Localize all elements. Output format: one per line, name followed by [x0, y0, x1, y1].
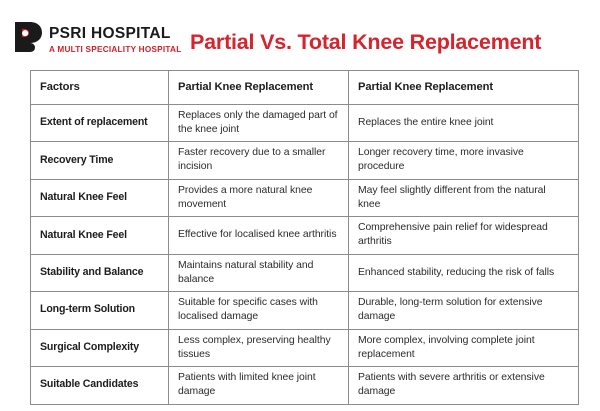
table-row: Long-term Solution Suitable for specific… — [31, 292, 579, 329]
table-header: Factors Partial Knee Replacement Partial… — [31, 71, 579, 105]
brand-tagline: A MULTI SPECIALITY HOSPITAL — [49, 45, 181, 54]
cell-partial: Replaces only the damaged part of the kn… — [169, 105, 349, 142]
cell-factor: Extent of replacement — [31, 105, 169, 142]
comparison-table: Factors Partial Knee Replacement Partial… — [30, 70, 579, 405]
column-header-factors: Factors — [31, 71, 169, 105]
comparison-table-container: Factors Partial Knee Replacement Partial… — [30, 70, 578, 405]
page-title: Partial Vs. Total Knee Replacement — [190, 30, 541, 55]
cell-factor: Surgical Complexity — [31, 329, 169, 366]
cell-total: May feel slightly different from the nat… — [349, 179, 579, 216]
table-row: Surgical Complexity Less complex, preser… — [31, 329, 579, 366]
cell-total: Replaces the entire knee joint — [349, 105, 579, 142]
cell-partial: Suitable for specific cases with localis… — [169, 292, 349, 329]
table-header-row: Factors Partial Knee Replacement Partial… — [31, 71, 579, 105]
brand-text-block: PSRI HOSPITAL A MULTI SPECIALITY HOSPITA… — [49, 20, 181, 53]
cell-factor: Suitable Candidates — [31, 367, 169, 404]
cell-total: Comprehensive pain relief for widespread… — [349, 217, 579, 254]
cell-factor: Long-term Solution — [31, 292, 169, 329]
cell-partial: Provides a more natural knee movement — [169, 179, 349, 216]
table-row: Suitable Candidates Patients with limite… — [31, 367, 579, 404]
table-row: Recovery Time Faster recovery due to a s… — [31, 142, 579, 179]
cell-total: Patients with severe arthritis or extens… — [349, 367, 579, 404]
column-header-total: Partial Knee Replacement — [349, 71, 579, 105]
cell-partial: Less complex, preserving healthy tissues — [169, 329, 349, 366]
cell-total: Enhanced stability, reducing the risk of… — [349, 254, 579, 291]
cell-partial: Effective for localised knee arthritis — [169, 217, 349, 254]
page-header: PSRI HOSPITAL A MULTI SPECIALITY HOSPITA… — [0, 0, 600, 70]
brand-lockup: PSRI HOSPITAL A MULTI SPECIALITY HOSPITA… — [13, 20, 181, 54]
brand-name: PSRI HOSPITAL — [49, 26, 181, 42]
table-body: Extent of replacement Replaces only the … — [31, 105, 579, 405]
cell-total: More complex, involving complete joint r… — [349, 329, 579, 366]
cell-partial: Patients with limited knee joint damage — [169, 367, 349, 404]
cell-partial: Maintains natural stability and balance — [169, 254, 349, 291]
table-row: Natural Knee Feel Provides a more natura… — [31, 179, 579, 216]
cell-total: Durable, long-term solution for extensiv… — [349, 292, 579, 329]
table-row: Natural Knee Feel Effective for localise… — [31, 217, 579, 254]
table-row: Stability and Balance Maintains natural … — [31, 254, 579, 291]
cell-factor: Stability and Balance — [31, 254, 169, 291]
cell-total: Longer recovery time, more invasive proc… — [349, 142, 579, 179]
cell-factor: Recovery Time — [31, 142, 169, 179]
psri-p-monogram-icon — [13, 20, 43, 54]
table-row: Extent of replacement Replaces only the … — [31, 105, 579, 142]
cell-factor: Natural Knee Feel — [31, 179, 169, 216]
cell-partial: Faster recovery due to a smaller incisio… — [169, 142, 349, 179]
column-header-partial: Partial Knee Replacement — [169, 71, 349, 105]
cell-factor: Natural Knee Feel — [31, 217, 169, 254]
